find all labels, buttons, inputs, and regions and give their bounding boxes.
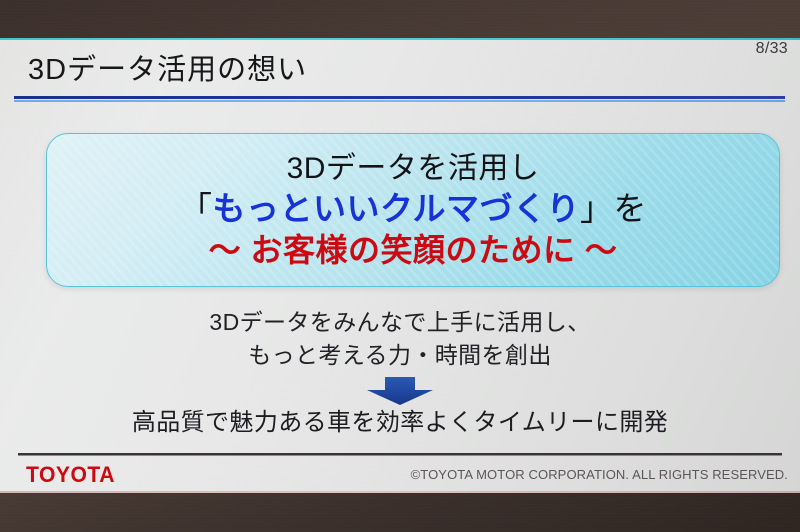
body-line-2: もっと考える力・時間を創出 <box>0 339 800 372</box>
arrow-container <box>0 377 800 405</box>
callout-particle-wo: を <box>614 190 648 227</box>
slide-footer: TOYOTA ©TOYOTA MOTOR CORPORATION. ALL RI… <box>0 453 800 493</box>
footer-rule-soft <box>18 455 782 456</box>
page-number: 8/33 <box>756 40 788 58</box>
headline-callout-box: 3Dデータを活用し 「もっといいクルマづくり」を ～ お客様の笑顔のために ～ <box>46 133 780 287</box>
copyright-notice: ©TOYOTA MOTOR CORPORATION. ALL RIGHTS RE… <box>411 467 788 482</box>
callout-line-3: ～ お客様の笑顔のために ～ <box>209 230 618 270</box>
projected-slide-photo: 8/33 3Dデータ活用の想い 3Dデータを活用し 「もっといいクルマづくり」を… <box>0 0 800 532</box>
footer-divider-rule <box>18 453 782 457</box>
down-arrow-icon <box>365 377 435 405</box>
title-rule-dark-blue <box>14 96 785 99</box>
callout-line-2: 「もっといいクルマづくり」を <box>179 188 647 230</box>
presentation-slide: 8/33 3Dデータ活用の想い 3Dデータを活用し 「もっといいクルマづくり」を… <box>0 38 800 493</box>
body-line-1: 3Dデータをみんなで上手に活用し、 <box>0 306 800 339</box>
callout-accent-phrase: もっといいクルマづくり <box>212 190 580 227</box>
title-rule-light-blue <box>14 100 785 102</box>
callout-open-bracket: 「 <box>179 190 213 227</box>
body-text-block: 3Dデータをみんなで上手に活用し、 もっと考える力・時間を創出 高品質で魅力ある… <box>0 306 800 439</box>
page-title: 3Dデータ活用の想い <box>28 54 307 86</box>
toyota-wordmark: TOYOTA <box>26 462 115 488</box>
title-underline-rule <box>14 96 785 102</box>
slide-top-edge <box>0 38 800 40</box>
body-conclusion-line: 高品質で魅力ある車を効率よくタイムリーに開発 <box>0 407 800 439</box>
callout-line-1: 3Dデータを活用し <box>287 150 540 188</box>
callout-close-bracket: 」 <box>580 190 614 227</box>
